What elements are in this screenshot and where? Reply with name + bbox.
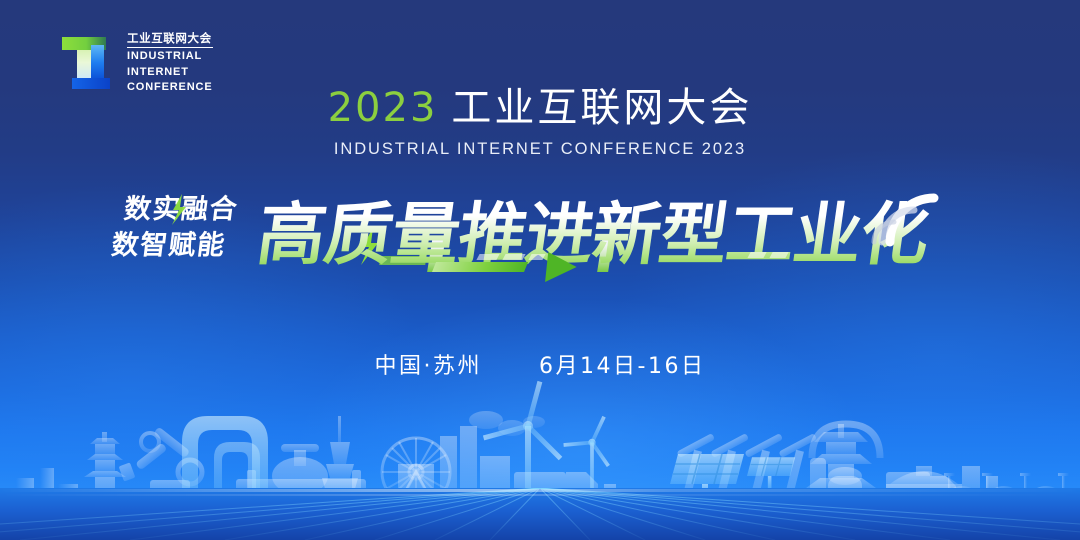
grid-lines xyxy=(0,488,1080,540)
event-dates: 6月14日-16日 xyxy=(539,354,705,379)
event-title: 2023工业互联网大会 xyxy=(0,88,1080,128)
slogan-tag-line-2: 数智赋能 xyxy=(110,229,228,261)
logo-wordmark: 工业互联网大会 INDUSTRIAL INTERNET CONFERENCE xyxy=(127,30,213,94)
perspective-grid xyxy=(0,488,1080,540)
conference-key-visual: 工业互联网大会 INDUSTRIAL INTERNET CONFERENCE 2… xyxy=(0,0,1080,540)
event-title-english: INDUSTRIAL INTERNET CONFERENCE 2023 xyxy=(0,140,1080,159)
ti-monogram-icon xyxy=(58,31,116,93)
event-title-chinese: 工业互联网大会 xyxy=(451,85,752,131)
slogan-main-text: 高质量推进新型工业化 xyxy=(252,196,933,275)
event-location: 中国·苏州 xyxy=(375,354,483,379)
event-title-block: 2023工业互联网大会 INDUSTRIAL INTERNET CONFEREN… xyxy=(0,88,1080,159)
event-title-year: 2023 xyxy=(328,85,438,131)
event-dateline: 中国·苏州 6月14日-16日 xyxy=(0,348,1080,380)
slogan-artwork: 数实融合 数智赋能 高质量推进新型工业化 xyxy=(0,178,1080,288)
logo-chinese-name: 工业互联网大会 xyxy=(127,32,213,48)
slogan-block: 数实融合 数智赋能 高质量推进新型工业化 xyxy=(0,178,1080,288)
logo-english-line-2: INTERNET xyxy=(127,65,213,79)
conference-logo[interactable]: 工业互联网大会 INDUSTRIAL INTERNET CONFERENCE xyxy=(58,30,213,94)
logo-english-line-1: INDUSTRIAL xyxy=(127,49,213,63)
